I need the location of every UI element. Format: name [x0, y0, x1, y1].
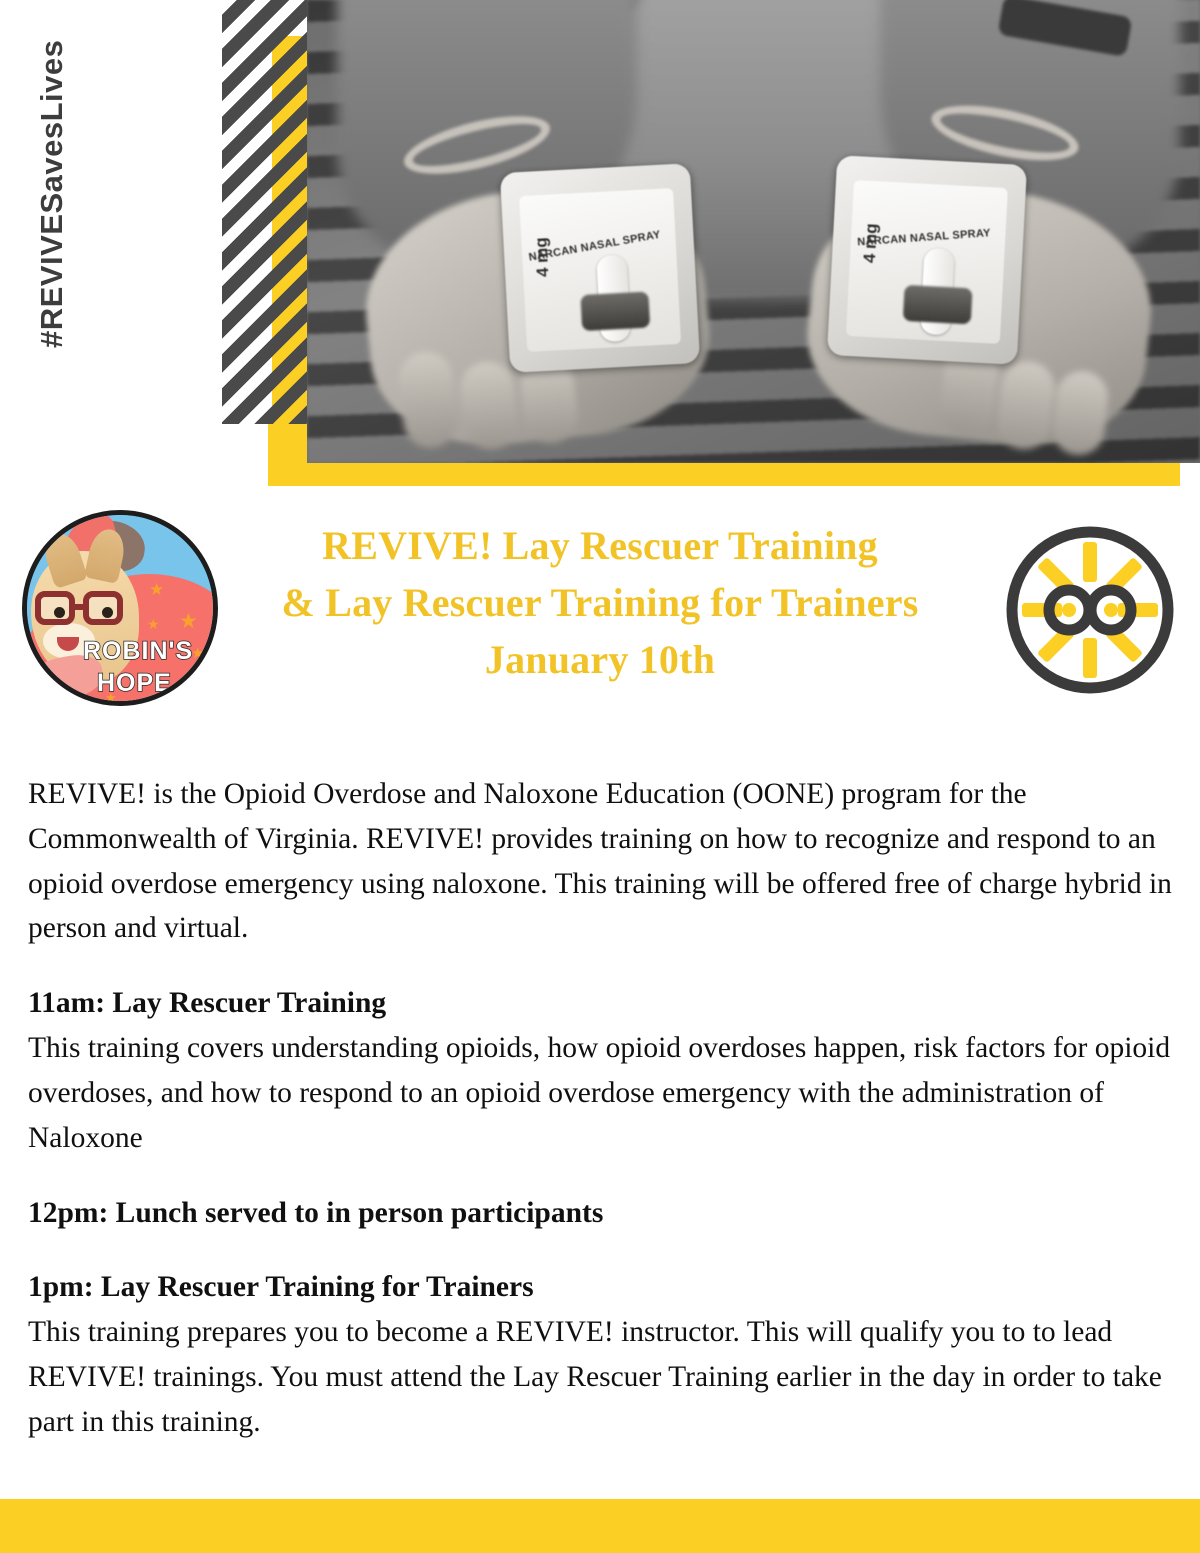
star-icon: ★: [179, 611, 198, 632]
narcan-package-right: NARCAN NASAL SPRAY 4 mg: [827, 155, 1027, 365]
session-description-11am: This training covers understanding opioi…: [28, 1032, 1170, 1154]
glasses-icon: [35, 591, 131, 627]
title-line-1: REVIVE! Lay Rescuer Training: [220, 518, 980, 575]
intro-paragraph: REVIVE! is the Opioid Overdose and Nalox…: [28, 772, 1198, 951]
hashtag-text: #REVIVESavesLives: [34, 8, 70, 348]
session-block-3: 1pm: Lay Rescuer Training for Trainers T…: [28, 1265, 1198, 1444]
title-line-2: & Lay Rescuer Training for Trainers: [220, 575, 980, 632]
event-flyer: #REVIVESavesLives NARCAN NASAL SPRAY 4 m…: [0, 0, 1200, 1553]
robins-hope-logo: ★ ★ ★ ★ ★ ★ ★ ROBIN'S HOPE: [22, 510, 218, 706]
star-icon: ★: [149, 581, 164, 598]
session-heading-11am: 11am: Lay Rescuer Training: [28, 981, 1198, 1026]
infinity-sun-logo: [1002, 522, 1178, 698]
hashtag-container: #REVIVESavesLives: [0, 0, 210, 420]
flyer-header: ★ ★ ★ ★ ★ ★ ★ ROBIN'S HOPE REV: [0, 500, 1200, 730]
session-block-2: 12pm: Lunch served to in person particip…: [28, 1191, 1198, 1236]
narcan-package-left: NARCAN NASAL SPRAY 4 mg: [500, 163, 700, 373]
title-line-3: January 10th: [220, 632, 980, 689]
logo-text-line2: HOPE: [97, 669, 172, 698]
star-icon: ★: [147, 619, 160, 633]
infinity-sun-icon: [1002, 522, 1178, 698]
flyer-title: REVIVE! Lay Rescuer Training & Lay Rescu…: [220, 518, 980, 688]
hero-photo-narcan-hands: NARCAN NASAL SPRAY 4 mg NARCAN NASAL SPR…: [307, 0, 1200, 463]
session-block-1: 11am: Lay Rescuer Training This training…: [28, 981, 1198, 1160]
session-description-1pm: This training prepares you to become a R…: [28, 1316, 1162, 1438]
narcan-dose-text: 4 mg: [860, 223, 882, 264]
flyer-body: REVIVE! is the Opioid Overdose and Nalox…: [28, 772, 1198, 1445]
logo-text-line1: ROBIN'S: [83, 637, 193, 666]
session-heading-1pm: 1pm: Lay Rescuer Training for Trainers: [28, 1265, 1198, 1310]
narcan-dose-text: 4 mg: [531, 237, 553, 278]
footer-yellow-bar: [0, 1499, 1200, 1553]
session-heading-12pm: 12pm: Lunch served to in person particip…: [28, 1191, 1198, 1236]
